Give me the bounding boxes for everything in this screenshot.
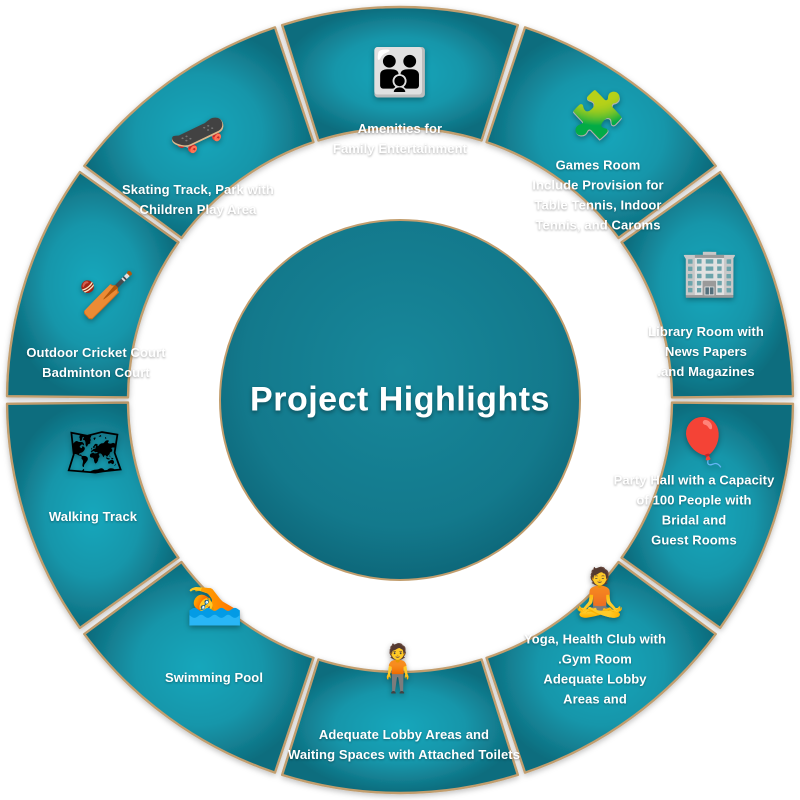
roller-skate-icon: 🛹 xyxy=(169,110,226,156)
puzzle-pieces-icon: 🧩 xyxy=(569,92,626,138)
library-building-icon: 🏢 xyxy=(681,249,738,295)
family-picnic-icon: 👪 xyxy=(371,49,428,95)
walking-track-map-icon: 🗺 xyxy=(66,429,124,475)
project-highlights-wheel: Project Highlights 👪Amenities forFamily … xyxy=(0,0,800,800)
waiting-people-clock-icon: 🧍 xyxy=(369,645,426,691)
page-title: Project Highlights xyxy=(250,381,550,420)
health-care-hands-icon: 🧘 xyxy=(571,569,628,615)
swimmer-icon: 🏊 xyxy=(186,577,243,623)
cricket-bat-wicket-icon: 🏏 xyxy=(78,272,135,318)
balloons-icon: 🎈 xyxy=(674,419,731,465)
